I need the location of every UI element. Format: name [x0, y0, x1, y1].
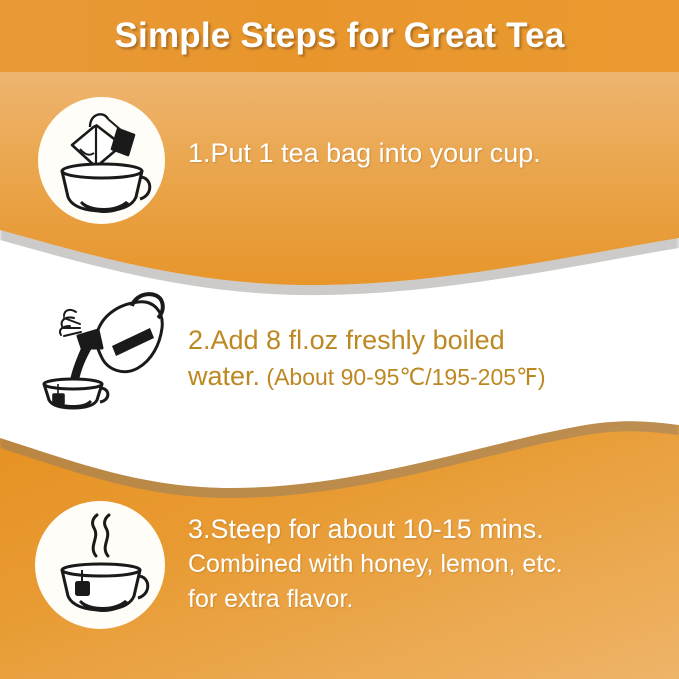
step-1-text: 1.Put 1 tea bag into your cup. — [188, 138, 668, 169]
step-2-line-2-wrap: water. (About 90-95℃/195-205℉) — [188, 358, 673, 395]
step-2-temperature: (About 90-95℃/195-205℉) — [260, 364, 546, 390]
steaming-cup-icon — [52, 512, 150, 620]
step-2-line-2: water. — [188, 361, 260, 391]
page-title: Simple Steps for Great Tea — [0, 16, 679, 56]
step-3-line-2: Combined with honey, lemon, etc. — [188, 547, 673, 582]
step-2-line-1: 2.Add 8 fl.oz freshly boiled — [188, 325, 505, 355]
step-3-line-1: 3.Steep for about 10-15 mins. — [188, 514, 544, 544]
kettle-pouring-icon — [40, 288, 172, 410]
tea-brewing-instructions-poster: Simple Steps for Great Tea 1.Put 1 tea b… — [0, 0, 679, 679]
teabag-into-cup-icon — [52, 105, 152, 217]
step-2-text: 2.Add 8 fl.oz freshly boiled water. (Abo… — [188, 322, 673, 395]
step-3-line-3: for extra flavor. — [188, 582, 673, 617]
step-3-text: 3.Steep for about 10-15 mins. Combined w… — [188, 512, 673, 617]
